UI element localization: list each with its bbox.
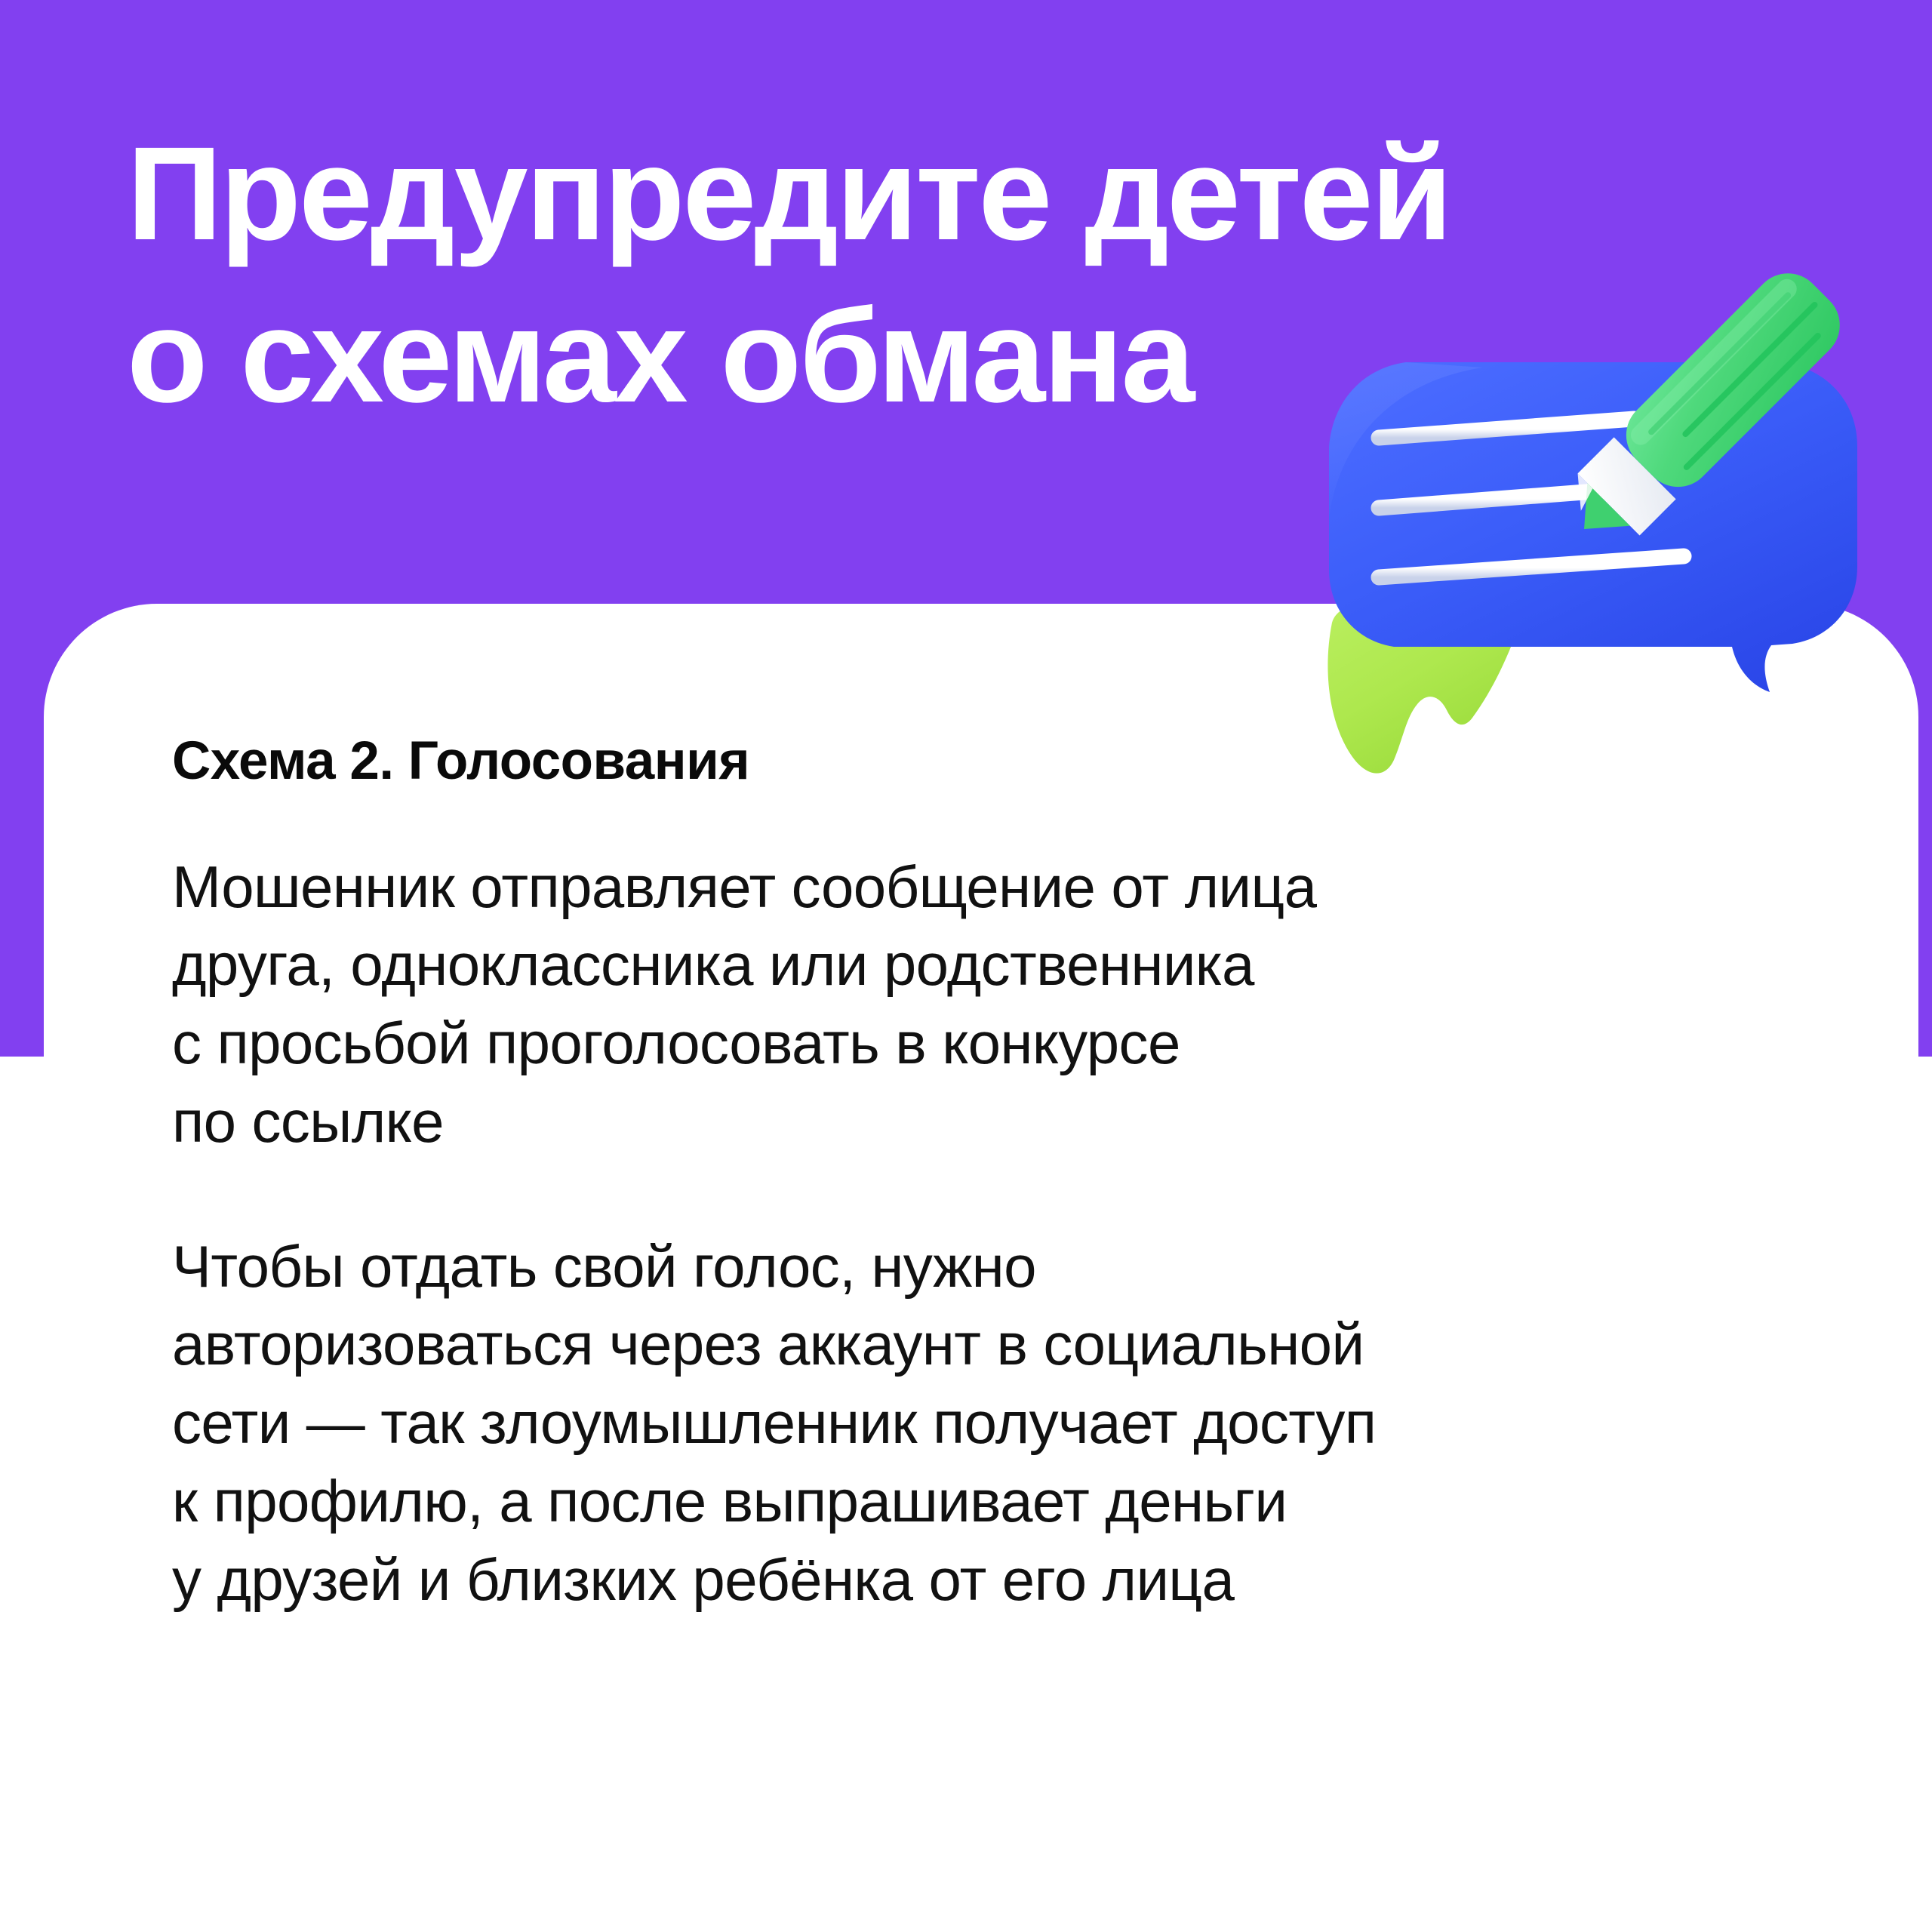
content-card-body: Схема 2. Голосования Мошенник отправляет… <box>172 731 1681 1619</box>
scheme-paragraph-2: Чтобы отдать свой голос, нужно авторизов… <box>172 1228 1681 1620</box>
scheme-paragraph-1: Мошенник отправляет сообщение от лица др… <box>172 848 1681 1161</box>
poster-canvas: Предупредите детей о схемах обмана Схема… <box>0 0 1932 1932</box>
page-title: Предупредите детей о схемах обмана <box>127 113 1561 437</box>
scheme-heading: Схема 2. Голосования <box>172 731 1681 792</box>
content-card: Схема 2. Голосования Мошенник отправляет… <box>44 604 1918 1932</box>
